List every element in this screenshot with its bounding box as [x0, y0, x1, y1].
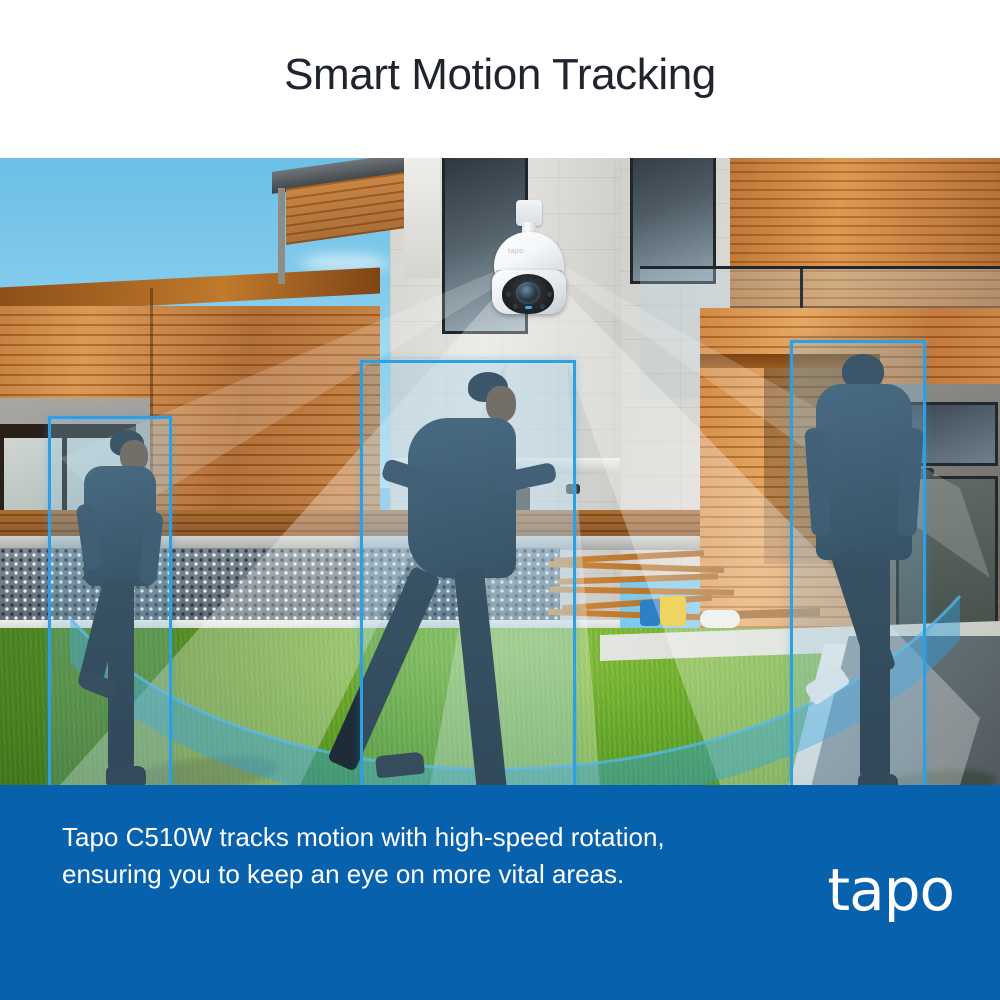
stone-sliver	[404, 158, 440, 278]
product-feature-card: Smart Motion Tracking	[0, 0, 1000, 1000]
tracking-box-center[interactable]	[360, 360, 576, 785]
material-bag	[640, 600, 660, 626]
page-title: Smart Motion Tracking	[284, 53, 716, 105]
scene-photo: tapo	[0, 158, 1000, 785]
caption-text: Tapo C510W tracks motion with high-speed…	[62, 819, 682, 894]
ir-led-icon	[506, 292, 511, 297]
downpipe	[278, 188, 285, 284]
material-sack	[700, 610, 740, 628]
pan-tilt-camera-icon: tapo	[486, 200, 572, 312]
tracking-box-right[interactable]	[790, 340, 926, 785]
header: Smart Motion Tracking	[0, 0, 1000, 158]
camera-lens	[516, 282, 540, 304]
status-led	[525, 306, 532, 309]
tracking-box-left[interactable]	[48, 416, 172, 785]
material-bag	[660, 596, 686, 626]
ir-led-icon	[513, 304, 518, 309]
tapo-logo: tapo	[827, 861, 954, 920]
caption-banner: Tapo C510W tracks motion with high-speed…	[0, 785, 1000, 1000]
ir-led-icon	[540, 304, 545, 309]
ir-led-icon	[547, 292, 552, 297]
tapo-logo-text: tapo	[827, 856, 954, 924]
camera-brand-label: tapo	[508, 248, 534, 256]
